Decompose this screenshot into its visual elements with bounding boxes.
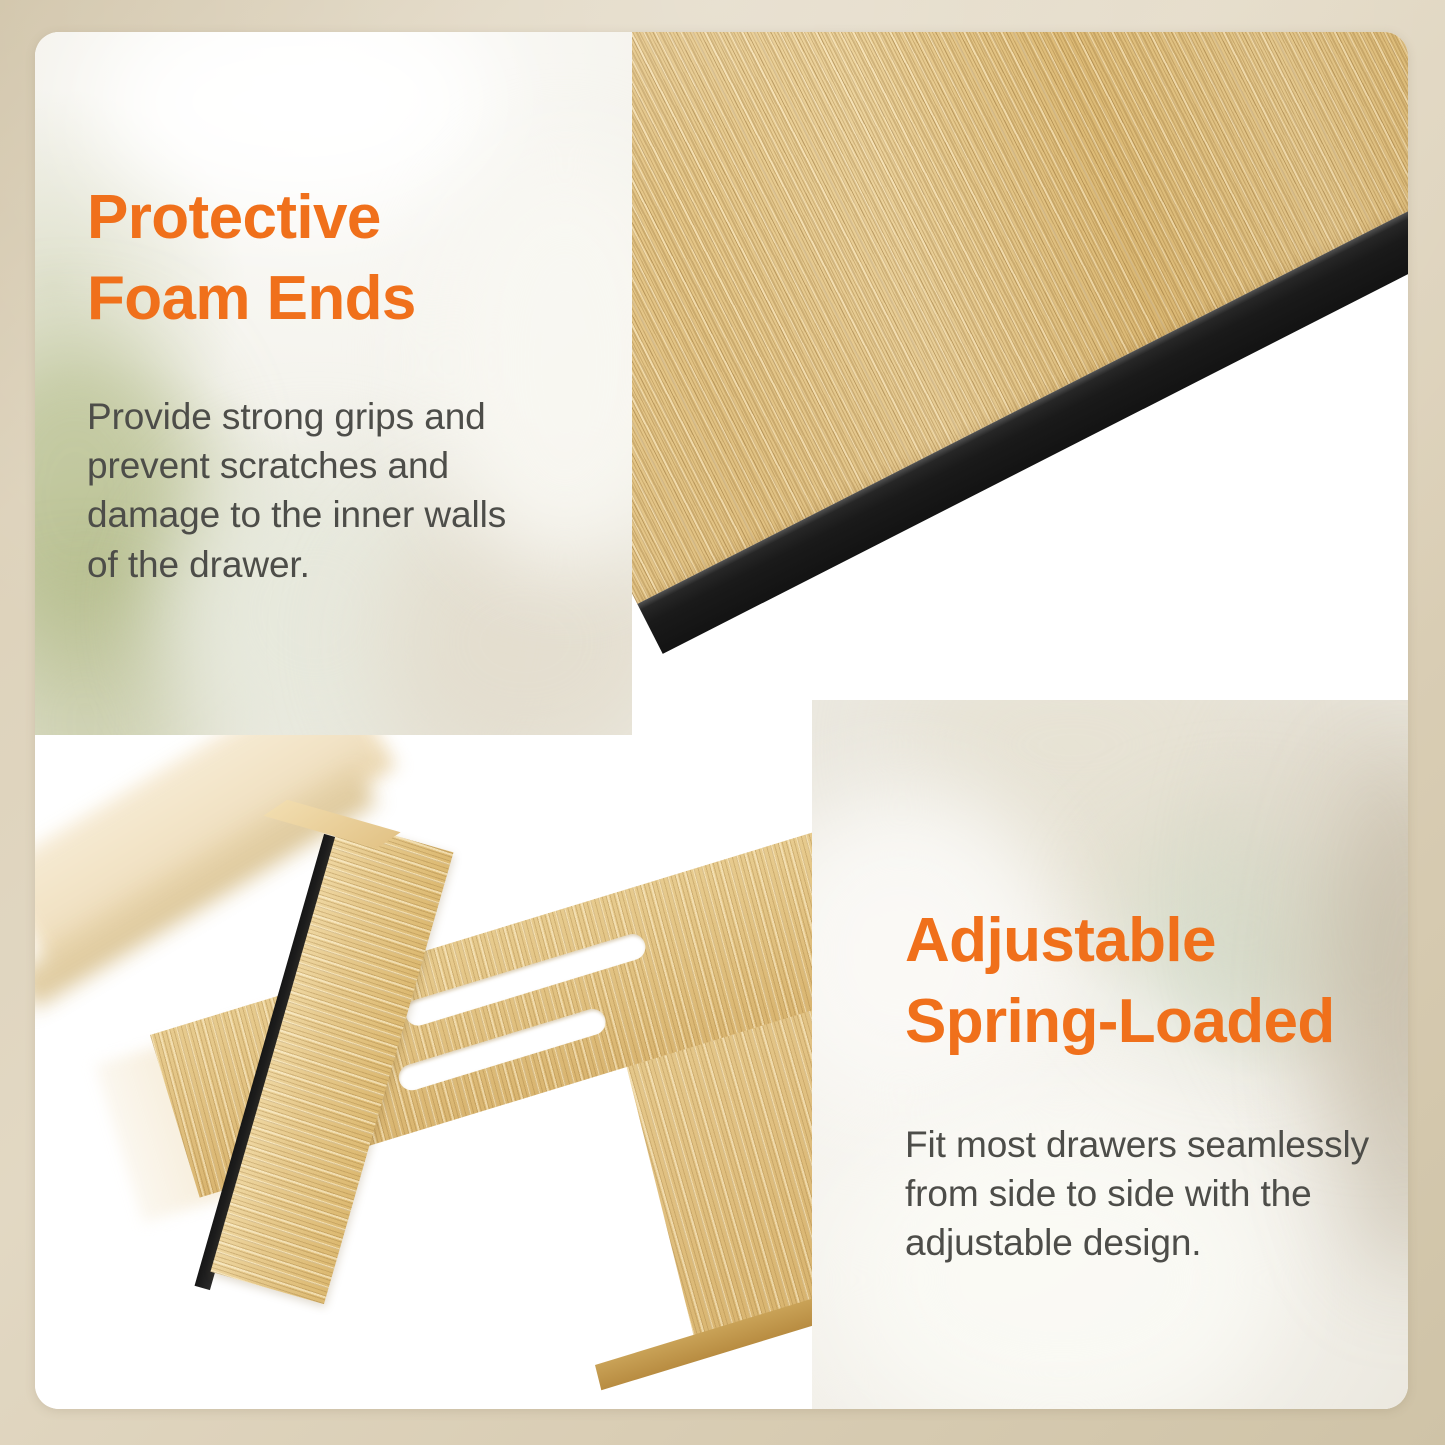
photo-spring-loaded-divider [35, 735, 812, 1409]
bamboo-board-group [632, 32, 1408, 700]
image-frame: Protective Foam Ends Provide strong grip… [0, 0, 1445, 1445]
panel-protective-foam-ends: Protective Foam Ends Provide strong grip… [35, 32, 632, 735]
body-adjustable-spring-loaded: Fit most drawers seamlessly from side to… [905, 1120, 1408, 1268]
product-feature-card: Protective Foam Ends Provide strong grip… [35, 32, 1408, 1409]
body-protective-foam-ends: Provide strong grips and prevent scratch… [87, 392, 587, 589]
headline-protective-foam-ends: Protective Foam Ends [87, 178, 607, 339]
headline-adjustable-spring-loaded: Adjustable Spring-Loaded [905, 901, 1408, 1062]
divider-slot-upper [402, 931, 649, 1029]
photo-bamboo-board [632, 32, 1408, 700]
divider-assembly-group [35, 735, 812, 1409]
panel-adjustable-spring-loaded: Adjustable Spring-Loaded Fit most drawer… [812, 700, 1408, 1409]
